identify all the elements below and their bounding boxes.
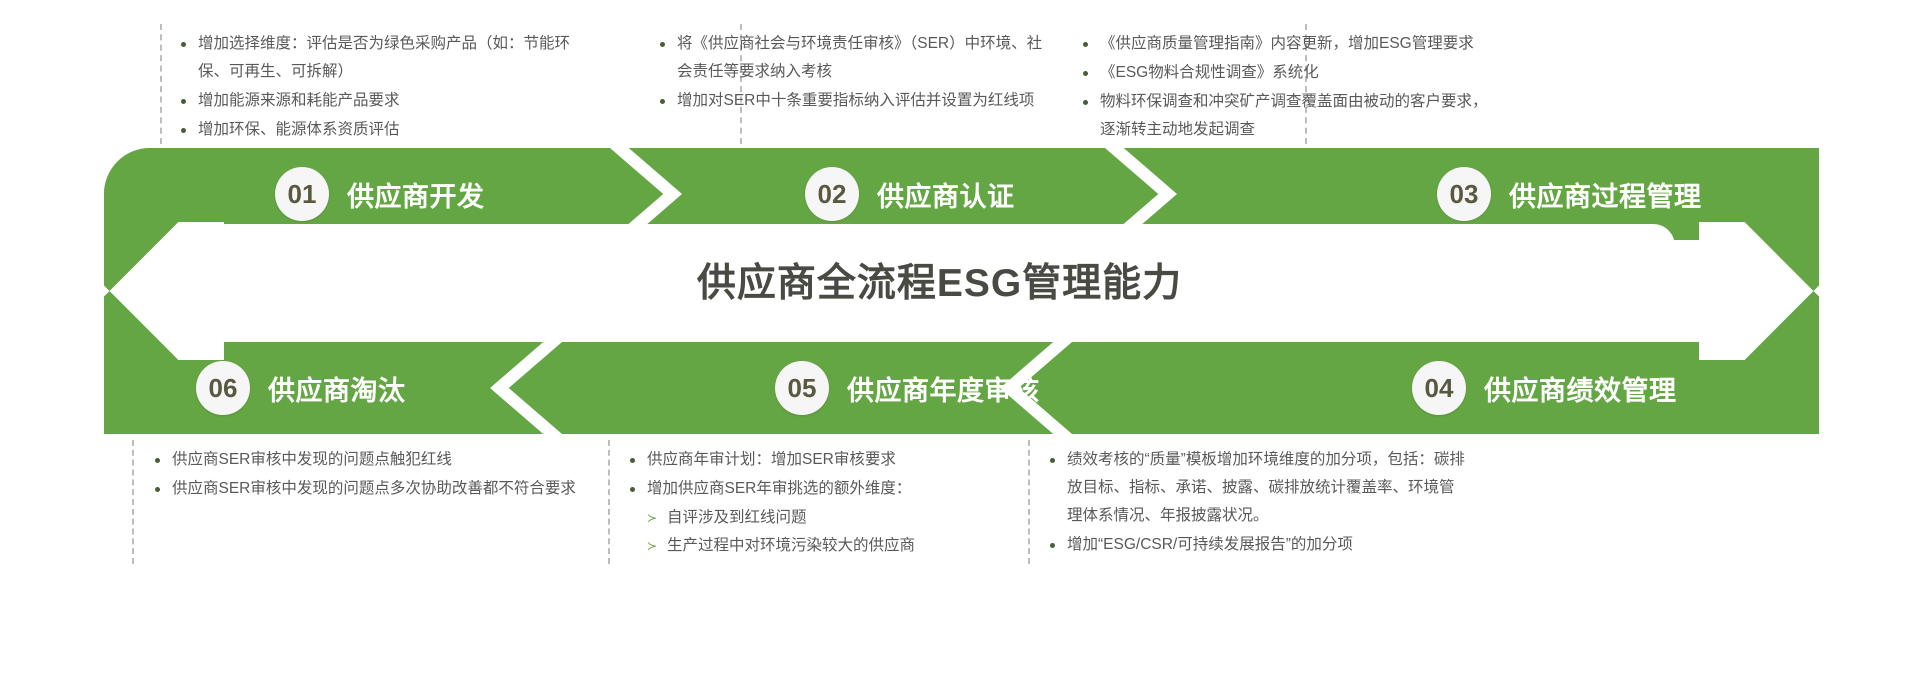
step-04[interactable]: 04 供应商绩效管理 — [1412, 342, 1677, 434]
note-bullet: 增加供应商SER年审挑选的额外维度： — [625, 475, 1025, 503]
step-number-badge: 06 — [196, 361, 250, 415]
divider-bottom-right — [1028, 440, 1030, 564]
notes-step-02: 将《供应商社会与环境责任审核》（SER）中环境、社会责任等要求纳入考核 增加对S… — [655, 30, 1055, 116]
note-bullet: 增加环保、能源体系资质评估 — [176, 116, 596, 144]
notes-step-05: 供应商年审计划：增加SER审核要求 增加供应商SER年审挑选的额外维度： 自评涉… — [625, 446, 1025, 560]
step-label: 供应商绩效管理 — [1484, 369, 1677, 408]
note-bullet: 《供应商质量管理指南》内容更新，增加ESG管理要求 — [1078, 30, 1498, 58]
note-bullet: 增加对SER中十条重要指标纳入评估并设置为红线项 — [655, 87, 1055, 115]
note-subbullet: 生产过程中对环境污染较大的供应商 — [647, 532, 1025, 560]
note-bullet: 增加能源来源和耗能产品要求 — [176, 87, 596, 115]
note-bullet: 供应商SER审核中发现的问题点多次协助改善都不符合要求 — [150, 475, 590, 503]
step-number-badge: 02 — [805, 167, 859, 221]
note-bullet: 增加“ESG/CSR/可持续发展报告”的加分项 — [1045, 531, 1465, 559]
notes-step-03: 《供应商质量管理指南》内容更新，增加ESG管理要求 《ESG物料合规性调查》系统… — [1078, 30, 1498, 145]
diagram-canvas: 增加选择维度：评估是否为绿色采购产品（如：节能环保、可再生、可拆解） 增加能源来… — [0, 0, 1919, 697]
notes-step-06: 供应商SER审核中发现的问题点触犯红线 供应商SER审核中发现的问题点多次协助改… — [150, 446, 590, 504]
note-bullet: 供应商年审计划：增加SER审核要求 — [625, 446, 1025, 474]
step-label: 供应商开发 — [347, 175, 485, 214]
divider-top-left — [160, 24, 162, 144]
page-title: 供应商全流程ESG管理能力 — [204, 224, 1675, 336]
step-label: 供应商年度审核 — [847, 369, 1040, 408]
step-number-badge: 05 — [775, 361, 829, 415]
step-05[interactable]: 05 供应商年度审核 — [775, 342, 1040, 434]
note-bullet: 《ESG物料合规性调查》系统化 — [1078, 59, 1498, 87]
step-label: 供应商淘汰 — [268, 369, 406, 408]
step-03[interactable]: 03 供应商过程管理 — [1437, 148, 1702, 240]
step-01[interactable]: 01 供应商开发 — [275, 148, 485, 240]
note-bullet: 物料环保调查和冲突矿产调查覆盖面由被动的客户要求，逐渐转主动地发起调查 — [1078, 88, 1498, 144]
notes-step-04: 绩效考核的“质量”模板增加环境维度的加分项，包括：碳排放目标、指标、承诺、披露、… — [1045, 446, 1465, 560]
step-number-badge: 01 — [275, 167, 329, 221]
note-subbullet: 自评涉及到红线问题 — [647, 504, 1025, 532]
divider-bottom-mid — [608, 440, 610, 564]
note-bullet: 绩效考核的“质量”模板增加环境维度的加分项，包括：碳排放目标、指标、承诺、披露、… — [1045, 446, 1465, 530]
step-number-badge: 04 — [1412, 361, 1466, 415]
step-number-badge: 03 — [1437, 167, 1491, 221]
step-label: 供应商过程管理 — [1509, 175, 1702, 214]
notes-step-01: 增加选择维度：评估是否为绿色采购产品（如：节能环保、可再生、可拆解） 增加能源来… — [176, 30, 596, 145]
step-label: 供应商认证 — [877, 175, 1015, 214]
note-bullet: 供应商SER审核中发现的问题点触犯红线 — [150, 446, 590, 474]
step-06[interactable]: 06 供应商淘汰 — [196, 342, 406, 434]
divider-bottom-left — [132, 440, 134, 564]
note-bullet: 增加选择维度：评估是否为绿色采购产品（如：节能环保、可再生、可拆解） — [176, 30, 596, 86]
note-bullet: 将《供应商社会与环境责任审核》（SER）中环境、社会责任等要求纳入考核 — [655, 30, 1055, 86]
step-02[interactable]: 02 供应商认证 — [805, 148, 1015, 240]
